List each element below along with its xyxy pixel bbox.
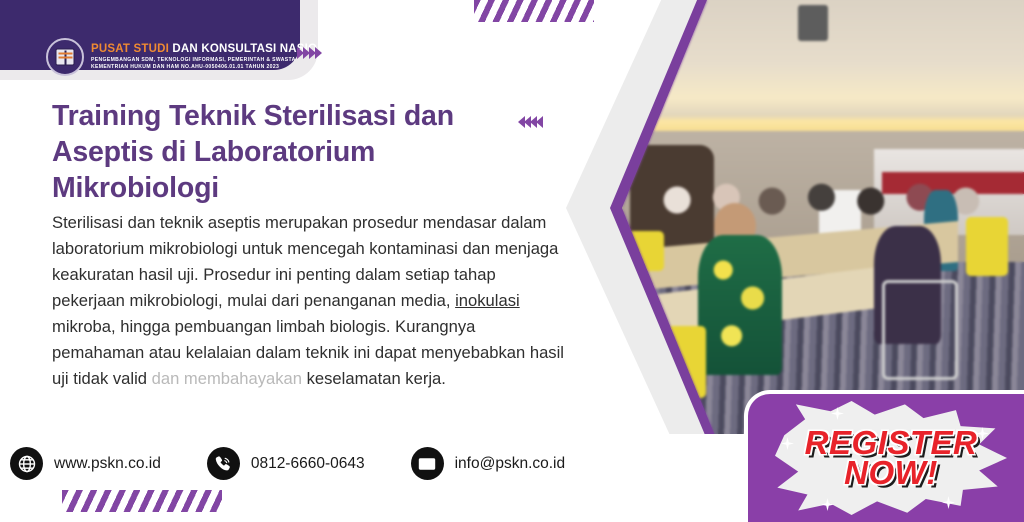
brand-subtitle-2: KEMENTRIAN HUKUM DAN HAM NO.AHU-0050406.… bbox=[91, 65, 341, 70]
phone-icon bbox=[207, 447, 240, 480]
chevron-right-icon bbox=[315, 47, 322, 59]
pskn-emblem-icon bbox=[46, 38, 84, 76]
decor-stripes-bottom bbox=[62, 490, 222, 512]
chevron-left-icon bbox=[536, 116, 543, 128]
chevron-right-group-header bbox=[297, 47, 321, 59]
globe-icon bbox=[10, 447, 43, 480]
register-burst[interactable]: REGISTER NOW! bbox=[775, 401, 1007, 515]
envelope-icon bbox=[411, 447, 444, 480]
body-faded-phrase: dan membahayakan bbox=[152, 369, 302, 388]
decor-stripes-top bbox=[474, 0, 594, 22]
contact-website[interactable]: www.pskn.co.id bbox=[10, 447, 161, 480]
page-title: Training Teknik Sterilisasi dan Aseptis … bbox=[52, 98, 532, 207]
contact-phone[interactable]: 0812-6660-0643 bbox=[207, 447, 365, 480]
contact-phone-text: 0812-6660-0643 bbox=[251, 455, 365, 473]
body-underlined-term: inokulasi bbox=[455, 291, 520, 310]
body-part-3: keselamatan kerja. bbox=[302, 369, 446, 388]
footer-contacts: www.pskn.co.id 0812-6660-0643 info@pskn.… bbox=[10, 447, 565, 480]
contact-website-text: www.pskn.co.id bbox=[54, 455, 161, 473]
contact-email[interactable]: info@pskn.co.id bbox=[411, 447, 566, 480]
register-line-2: NOW! bbox=[805, 458, 978, 488]
register-now-label: REGISTER NOW! bbox=[805, 428, 978, 489]
brand-title-highlight: PUSAT STUDI bbox=[91, 43, 169, 55]
body-paragraph: Sterilisasi dan teknik aseptis merupakan… bbox=[52, 210, 568, 392]
register-now-panel[interactable]: REGISTER NOW! bbox=[744, 390, 1024, 522]
contact-email-text: info@pskn.co.id bbox=[455, 455, 566, 473]
